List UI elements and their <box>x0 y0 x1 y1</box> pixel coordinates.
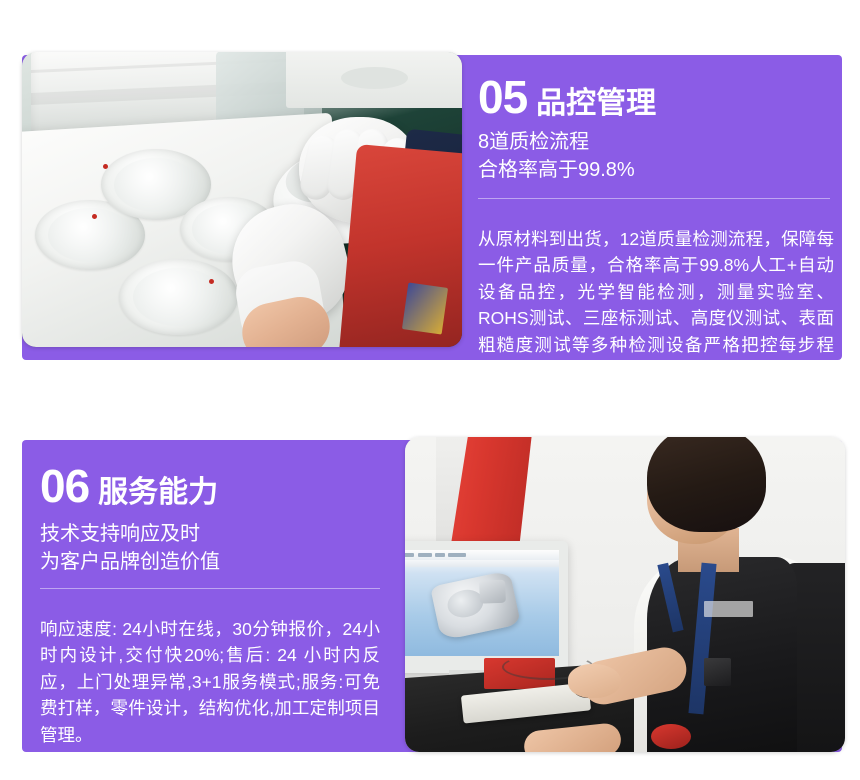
background-shelf <box>286 52 462 108</box>
card-05-subtitle-line-1: 8道质检流程 <box>478 128 635 156</box>
product-feature-page: 05 品控管理 8道质检流程 合格率高于99.8% 从原材料到出货，12道质量检… <box>0 0 860 780</box>
card-05-subtitle: 8道质检流程 合格率高于99.8% <box>478 128 635 185</box>
card-06-subtitle: 技术支持响应及时 为客户品牌创造价值 <box>40 520 220 577</box>
cad-toolbar <box>405 560 559 567</box>
tray-cavity <box>119 259 238 336</box>
card-05-body: 从原材料到出货，12道质量检测流程，保障每一件产品质量，合格率高于99.8%人工… <box>478 226 834 386</box>
card-05-headline: 05 品控管理 <box>478 74 656 120</box>
engineer-hair <box>647 437 766 532</box>
card-06-subtitle-line-1: 技术支持响应及时 <box>40 520 220 548</box>
vest-logo <box>402 283 448 335</box>
card-06-divider <box>40 588 380 589</box>
quality-control-photo <box>22 52 462 347</box>
feature-card-06: 06 服务能力 技术支持响应及时 为客户品牌创造价值 响应速度: 24小时在线，… <box>0 418 860 778</box>
card-05-divider <box>478 198 830 199</box>
card-06-body: 响应速度: 24小时在线，30分钟报价，24小时内设计,交付快20%;售后: 2… <box>40 616 380 749</box>
red-knob <box>651 724 691 749</box>
toolbar-item <box>418 553 433 557</box>
engineer-hand-on-mouse <box>568 664 621 699</box>
card-05-subtitle-line-2: 合格率高于99.8% <box>478 156 635 184</box>
id-badge <box>704 658 730 686</box>
card-05-number: 05 <box>478 74 527 120</box>
monitor-screen <box>405 550 559 656</box>
toolbar-item <box>435 553 445 557</box>
toolbar-item <box>405 553 414 557</box>
service-capability-photo <box>405 437 845 752</box>
card-06-number: 06 <box>40 463 89 509</box>
cad-3d-model <box>431 570 522 641</box>
card-06-subtitle-line-2: 为客户品牌创造价值 <box>40 548 220 576</box>
card-06-headline: 06 服务能力 <box>40 463 218 509</box>
card-06-title: 服务能力 <box>98 478 218 508</box>
vest-brand-text <box>704 601 752 617</box>
card-05-title: 品控管理 <box>536 89 656 119</box>
feature-card-05: 05 品控管理 8道质检流程 合格率高于99.8% 从原材料到出货，12道质量检… <box>0 0 860 380</box>
toolbar-item <box>448 553 466 557</box>
